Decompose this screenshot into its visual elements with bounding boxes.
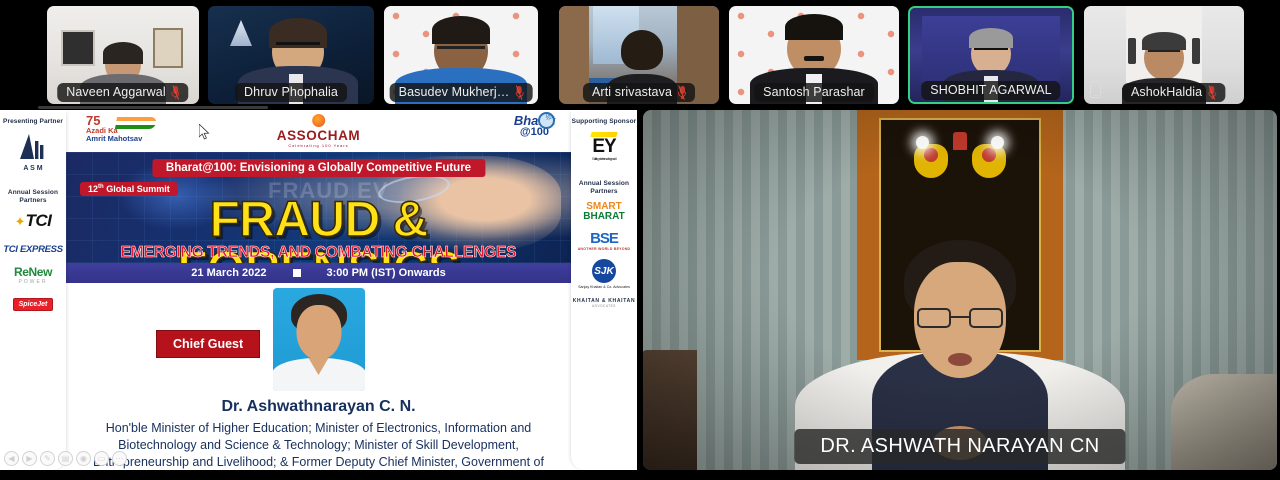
participant-name-badge: AshokHaldia xyxy=(1122,83,1225,102)
chief-guest-block: Chief Guest Dr. Ashwathnarayan C. N. Hon… xyxy=(66,283,571,470)
summit-banner: FRAUD EV Bharat@100: Envisioning a Globa… xyxy=(66,152,571,263)
event-date: 21 March 2022 xyxy=(191,267,266,279)
filmstrip-scrollbar[interactable] xyxy=(38,106,268,109)
slide-header: 75 Azadi Ka Amrit Mahotsav ASSOCHAM Cele… xyxy=(66,110,571,152)
ashoka-chakra-icon xyxy=(538,112,555,129)
participant-name-badge: Santosh Parashar xyxy=(754,83,874,102)
asm-logo: A S M xyxy=(16,132,50,172)
pen-icon[interactable]: ✎ xyxy=(40,451,55,466)
participant-name-badge: Basudev Mukherj… xyxy=(390,83,533,102)
participant-tile[interactable]: Arti srivastava xyxy=(559,6,719,104)
microphone-muted-icon xyxy=(678,86,686,99)
participant-name-badge: Dhruv Phophalia xyxy=(235,83,347,102)
phone-audio-icon xyxy=(1090,81,1101,98)
participant-name-badge: Arti srivastava xyxy=(583,83,695,102)
separator-square-icon xyxy=(293,269,301,277)
microphone-muted-icon xyxy=(1208,86,1216,99)
sjk-logo: SJK Sanjay Khaitan & Co. Advocates xyxy=(578,259,630,290)
participant-name: Dhruv Phophalia xyxy=(244,85,338,100)
stamp-icon[interactable]: ▤ xyxy=(58,451,73,466)
participant-name: AshokHaldia xyxy=(1131,85,1202,100)
tci-logo: ✦TCI xyxy=(15,211,52,231)
presenting-partner-label: Presenting Partner xyxy=(3,118,63,126)
participant-name-badge: Naveen Aggarwal xyxy=(57,83,188,102)
zoom-meeting-window: Naveen Aggarwal Dhruv Phophalia xyxy=(0,0,1280,480)
assocham-logo: ASSOCHAM Celebrating 100 Years xyxy=(277,114,361,148)
azadi-ka-amrit-mahotsav-logo: 75 Azadi Ka Amrit Mahotsav xyxy=(86,115,142,143)
participant-name: Naveen Aggarwal xyxy=(66,85,165,100)
play-icon[interactable]: ▶ xyxy=(22,451,37,466)
previous-slide-icon[interactable]: ◀ xyxy=(4,451,19,466)
participant-tile[interactable]: Basudev Mukherj… xyxy=(384,6,538,104)
annotation-toolbar[interactable]: ◀ ▶ ✎ ▤ ◉ ▭ ⋯ xyxy=(4,451,127,466)
smart-bharat-logo: SMART BHARAT xyxy=(583,202,624,222)
meeting-stage: Presenting Partner A S M Annual Session … xyxy=(0,110,1280,480)
participant-filmstrip[interactable]: Naveen Aggarwal Dhruv Phophalia xyxy=(0,0,1280,110)
mouse-cursor-icon xyxy=(199,124,210,140)
chief-guest-badge: Chief Guest xyxy=(156,330,260,358)
chief-guest-name: Dr. Ashwathnarayan C. N. xyxy=(66,398,571,416)
assocham-sun-icon xyxy=(312,114,325,127)
renew-power-logo: ReNew POWER xyxy=(14,265,52,285)
participant-tile[interactable]: AshokHaldia xyxy=(1084,6,1244,104)
participant-tile[interactable]: Naveen Aggarwal xyxy=(47,6,199,104)
khaitan-logo: KHAITAN & KHAITAN ADVOCATES xyxy=(573,298,636,308)
banner-subtitle: EMERGING TRENDS, AND COMBATING CHALLENGE… xyxy=(66,244,571,262)
microphone-muted-icon xyxy=(515,86,523,99)
active-speaker-video[interactable]: DR. ASHWATH NARAYAN CN xyxy=(643,110,1277,470)
chief-guest-portrait xyxy=(273,288,365,391)
participant-tile[interactable]: Dhruv Phophalia xyxy=(208,6,374,104)
sponsor-rail-left: Presenting Partner A S M Annual Session … xyxy=(0,110,66,470)
spotlight-icon[interactable]: ◉ xyxy=(76,451,91,466)
sponsor-rail-right: Supporting Sponsor EY Building a better … xyxy=(571,110,637,470)
event-datetime-bar: 21 March 2022 3:00 PM (IST) Onwards xyxy=(66,263,571,283)
tci-express-logo: TCI EXPRESS xyxy=(3,239,63,257)
annual-session-partners-label-right: Annual Session Partners xyxy=(571,180,637,196)
participant-name-badge: SHOBHIT AGARWAL xyxy=(921,81,1060,100)
bse-logo: BSE ANOTHER WORLD BEYOND xyxy=(578,230,631,251)
annual-session-partners-label-left: Annual Session Partners xyxy=(0,189,66,205)
active-speaker-name-badge: DR. ASHWATH NARAYAN CN xyxy=(794,429,1125,464)
event-time: 3:00 PM (IST) Onwards xyxy=(327,267,446,279)
indian-flag-icon xyxy=(115,117,157,129)
participant-name: Arti srivastava xyxy=(592,85,672,100)
spicejet-logo: SpiceJet xyxy=(13,293,54,311)
textbox-icon[interactable]: ▭ xyxy=(94,451,109,466)
more-icon[interactable]: ⋯ xyxy=(112,451,127,466)
shared-screen-slide[interactable]: Presenting Partner A S M Annual Session … xyxy=(0,110,637,470)
ey-logo: EY Building a better working world xyxy=(591,132,617,161)
asm-mark-icon xyxy=(16,132,50,160)
participant-tile-active[interactable]: SHOBHIT AGARWAL xyxy=(908,6,1074,104)
participant-tile[interactable]: Santosh Parashar xyxy=(729,6,899,104)
participant-name: SHOBHIT AGARWAL xyxy=(930,83,1051,98)
participant-name: Santosh Parashar xyxy=(763,85,865,100)
video-vignette xyxy=(643,110,1277,470)
supporting-sponsor-label: Supporting Sponsor xyxy=(572,118,637,126)
theme-ribbon: Bharat@100: Envisioning a Globally Compe… xyxy=(152,159,485,177)
bharat-at-100-logo: Bharat @100 xyxy=(514,115,555,138)
microphone-muted-icon xyxy=(172,86,180,99)
participant-name: Basudev Mukherj… xyxy=(399,85,510,100)
chief-guest-designation: Hon'ble Minister of Higher Education; Mi… xyxy=(72,420,565,470)
